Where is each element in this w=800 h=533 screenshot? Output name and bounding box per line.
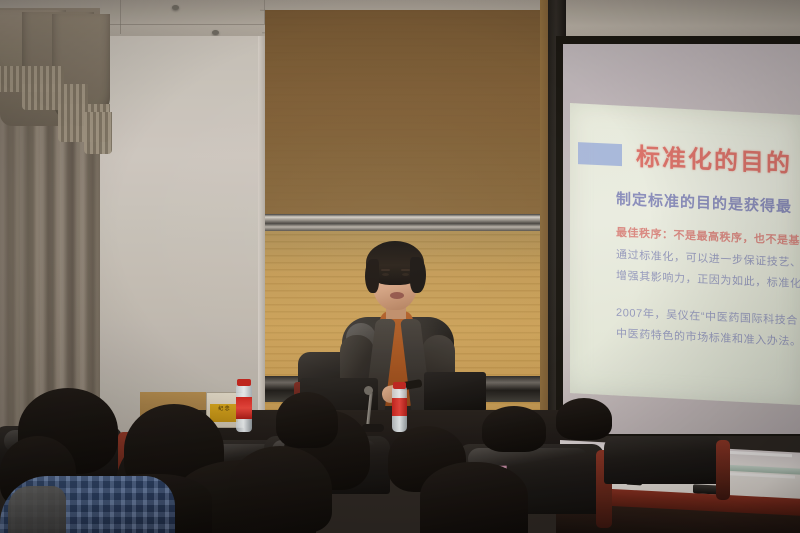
audience-head [482,406,546,452]
slide-body-line-3: 2007年，吴仪在“中医药国际科技合 [616,304,798,328]
speaker-hair-side [410,257,426,293]
audience-head [556,398,612,440]
monitor [424,372,486,412]
ceiling-grid-line [120,0,121,34]
speaker-hair-side [365,259,379,293]
slide-body-line-4: 中医药特色的市场标准和准入办法。 [616,325,800,349]
water-bottle-label [392,398,407,416]
microphone-icon [364,386,373,395]
audience-head [276,392,338,448]
slide-red-line: 最佳秩序：不是最高秩序，也不是基本 [616,224,800,249]
water-bottle-cap [393,382,406,389]
slide-accent-box [578,142,622,166]
wall-white [95,36,267,436]
audience-head [420,462,528,533]
speaker-eye [402,273,409,276]
slide-body-line-2: 增强其影响力，正因为如此，标准化是 [616,267,800,292]
seat-wood-trim [716,440,730,500]
slide-title: 标准化的目的 [636,137,792,179]
seat-back [604,436,724,484]
speaker-eyebrow [381,269,390,271]
speaker-mouth [390,292,404,299]
water-bottle-label [236,397,252,419]
speaker-eye [382,273,389,276]
ceiling-grid-line [96,24,286,25]
microphone-base [362,424,384,432]
curtain-tassel-fringe [84,112,112,154]
audience-head [228,446,332,533]
photo-scene: 标准化的目的 制定标准的目的是获得最 最佳秩序：不是最高秩序，也不是基本 通过标… [0,0,800,533]
presentation-slide: 标准化的目的 制定标准的目的是获得最 最佳秩序：不是最高秩序，也不是基本 通过标… [570,103,800,405]
backpack [8,486,66,533]
desk-plaque-text: 纪 念 [211,406,237,413]
ceiling-fixture-icon [212,30,219,35]
slide-body-line-1: 通过标准化，可以进一步保证技艺、产 [616,246,800,271]
speaker-eyebrow [401,269,410,271]
slide-subtitle: 制定标准的目的是获得最 [616,188,792,217]
wood-panel-upper [265,10,550,220]
ceiling-fixture-icon [172,5,179,10]
mirror-strip [265,214,550,231]
water-bottle-cap [237,379,251,386]
